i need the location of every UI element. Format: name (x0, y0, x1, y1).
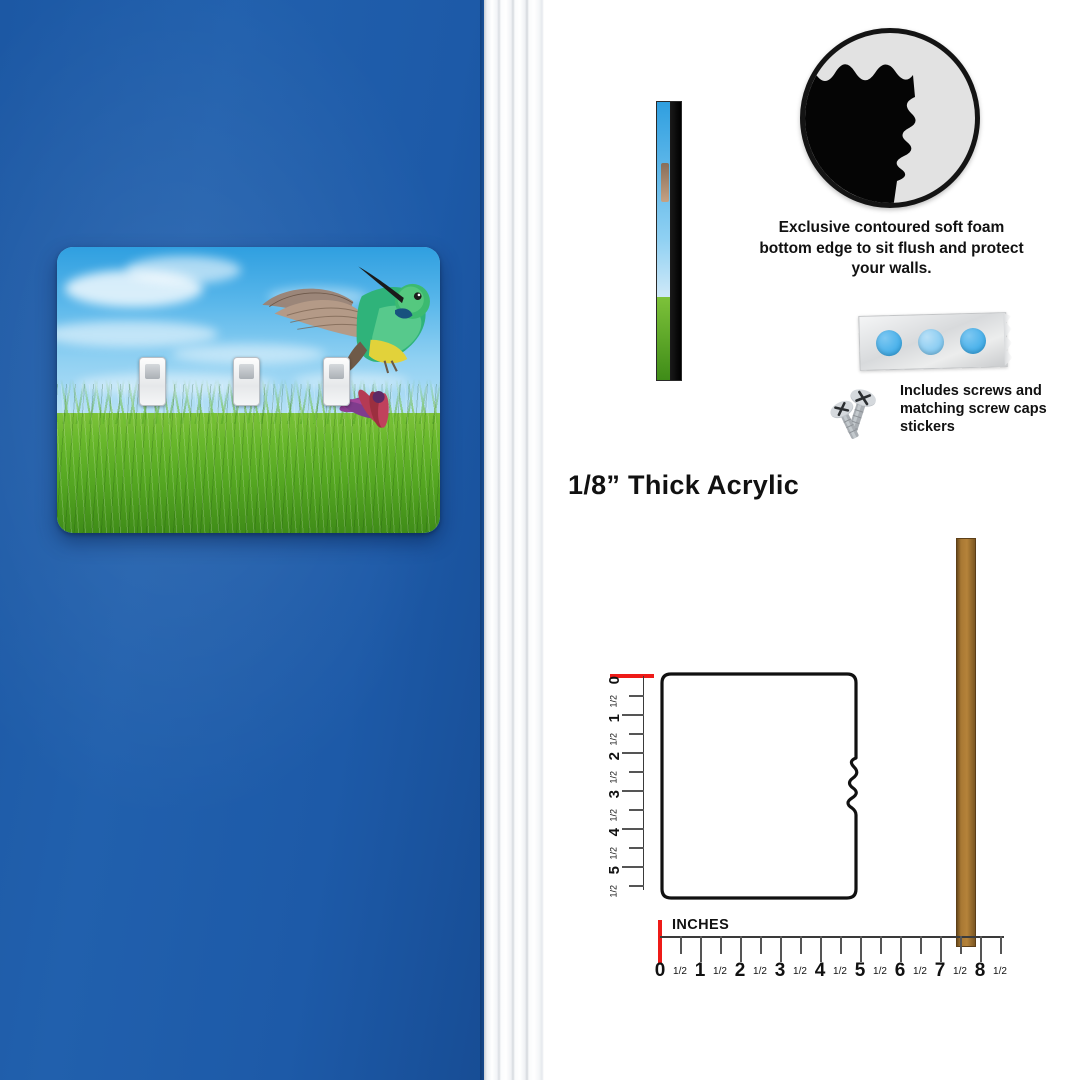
dimension-diagram: 01/211/221/231/241/251/2 INCHES 01/211/2… (544, 520, 1080, 1020)
screws-graphic (820, 382, 892, 442)
ruler-tick (629, 771, 644, 773)
foam-caption: Exclusive contoured soft foam bottom edg… (754, 218, 1029, 280)
ruler-tick (622, 752, 644, 754)
ruler-tick (860, 936, 862, 962)
ruler-tick (622, 790, 644, 792)
ruler-label-minor: 1/2 (609, 885, 619, 898)
ruler-tick (880, 936, 882, 954)
ruler-label-major: 0 (655, 960, 666, 982)
sticker-torn-edge (1003, 313, 1012, 366)
ruler-label-major: 8 (975, 960, 986, 982)
ruler-tick (622, 714, 644, 716)
ruler-tick (622, 866, 644, 868)
ruler-label-minor: 1/2 (609, 733, 619, 746)
plate-artwork (57, 247, 440, 533)
screw-cap-sticker (918, 329, 945, 356)
ruler-label-major: 5 (606, 866, 623, 874)
ruler-label-major: 2 (606, 752, 623, 760)
ruler-tick (940, 936, 942, 962)
ruler-tick (800, 936, 802, 954)
ruler-tick (740, 936, 742, 962)
ruler-label-major: 5 (855, 960, 866, 982)
ruler-label-minor: 1/2 (793, 966, 807, 977)
horizontal-ruler-zero-marker (658, 920, 662, 964)
ruler-label-major: 1 (695, 960, 706, 982)
plate-side-profile-view (656, 101, 682, 381)
toggle-switch[interactable] (139, 357, 166, 406)
ruler-label-major: 2 (735, 960, 746, 982)
ruler-tick (629, 695, 644, 697)
ruler-tick (700, 936, 702, 962)
ruler-label-major: 4 (815, 960, 826, 982)
ruler-tick (680, 936, 682, 954)
foam-contour-shape (805, 33, 980, 208)
ruler-label-minor: 1/2 (873, 966, 887, 977)
ruler-label-minor: 1/2 (753, 966, 767, 977)
ruler-label-major: 3 (775, 960, 786, 982)
acrylic-thickness-bar (956, 538, 976, 947)
ruler-label-major: 0 (606, 676, 623, 684)
thickness-title: 1/8” Thick Acrylic (568, 470, 799, 501)
ruler-tick (629, 847, 644, 849)
horizontal-ruler-line (660, 936, 1004, 938)
ruler-tick (622, 828, 644, 830)
ruler-label-minor: 1/2 (913, 966, 927, 977)
toggle-switch[interactable] (233, 357, 260, 406)
ruler-label-minor: 1/2 (609, 847, 619, 860)
screw-cap-sticker (960, 328, 987, 355)
ruler-label-minor: 1/2 (993, 966, 1007, 977)
horizontal-ruler: INCHES 01/211/221/231/241/251/261/271/28… (654, 918, 1014, 990)
ruler-label-major: 7 (935, 960, 946, 982)
ruler-tick (780, 936, 782, 962)
foam-circle (800, 28, 980, 208)
vertical-ruler-line (643, 676, 645, 890)
ruler-label-minor: 1/2 (713, 966, 727, 977)
ruler-tick (840, 936, 842, 954)
ruler-tick (1000, 936, 1002, 954)
switch-plate-product-photo (57, 247, 440, 533)
ruler-tick (629, 809, 644, 811)
foam-detail-callout (800, 28, 980, 208)
ruler-label-major: 3 (606, 790, 623, 798)
ruler-tick (900, 936, 902, 962)
profile-grass (657, 297, 670, 380)
ruler-label-minor: 1/2 (673, 966, 687, 977)
vertical-ruler: 01/211/221/231/241/251/2 (582, 660, 644, 890)
screws-caption: Includes screws and matching screw caps … (900, 382, 1070, 436)
cloud (126, 256, 241, 285)
ruler-tick (629, 733, 644, 735)
ruler-tick (720, 936, 722, 954)
info-panel: Exclusive contoured soft foam bottom edg… (544, 0, 1080, 1080)
ruler-tick (920, 936, 922, 954)
profile-bird (661, 163, 669, 202)
ruler-tick (629, 885, 644, 887)
ruler-label-minor: 1/2 (953, 966, 967, 977)
ruler-tick (960, 936, 962, 954)
ruler-label-minor: 1/2 (609, 809, 619, 822)
ruler-label-major: 1 (606, 714, 623, 722)
profile-edge (670, 102, 681, 380)
ruler-label-minor: 1/2 (609, 695, 619, 708)
toggle-switch[interactable] (323, 357, 350, 406)
ruler-tick (820, 936, 822, 962)
ruler-label-major: 6 (895, 960, 906, 982)
ruler-tick (980, 936, 982, 962)
ruler-label-minor: 1/2 (609, 771, 619, 784)
ruler-tick (760, 936, 762, 954)
ruler-unit-label: INCHES (672, 917, 729, 933)
screw-cap-sticker (876, 330, 903, 357)
wall-sheen (0, 0, 484, 1080)
product-detail-image: Exclusive contoured soft foam bottom edg… (0, 0, 1080, 1080)
ruler-label-minor: 1/2 (833, 966, 847, 977)
ruler-label-major: 4 (606, 828, 623, 836)
door-moulding (484, 0, 544, 1080)
screw-cap-sticker-sheet (858, 312, 1007, 371)
